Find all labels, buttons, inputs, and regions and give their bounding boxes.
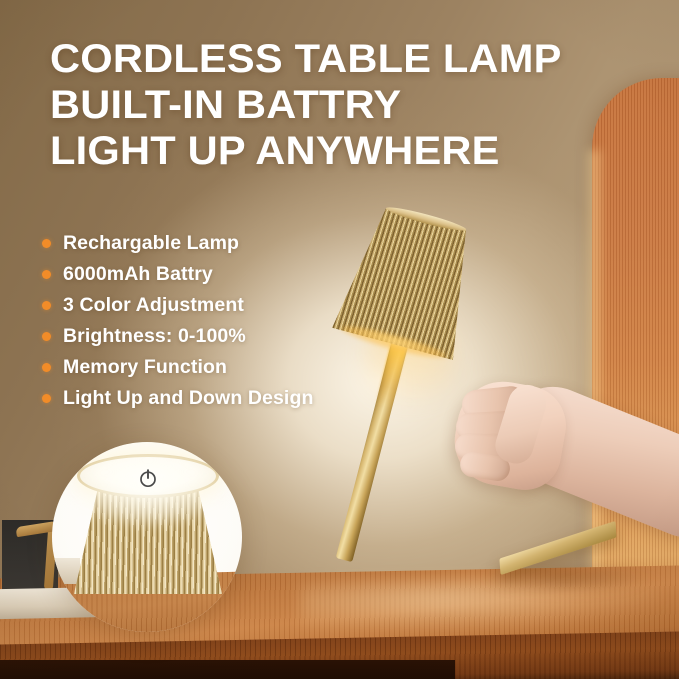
list-item: 3 Color Adjustment xyxy=(42,290,442,321)
list-item: 6000mAh Battry xyxy=(42,259,442,290)
headline-block: CORDLESS TABLE LAMP BUILT-IN BATTRY LIGH… xyxy=(50,36,610,174)
headline-line-2: BUILT-IN BATTRY xyxy=(50,82,632,128)
feature-list: Rechargable Lamp 6000mAh Battry 3 Color … xyxy=(42,228,442,414)
headline-line-1: CORDLESS TABLE LAMP xyxy=(50,36,632,82)
feature-label: 6000mAh Battry xyxy=(63,263,213,286)
inset-decor-block xyxy=(52,558,80,584)
bullet-dot-icon xyxy=(42,301,51,310)
bullet-dot-icon xyxy=(42,363,51,372)
feature-label: Brightness: 0-100% xyxy=(63,325,246,348)
product-ad-banner: CORDLESS TABLE LAMP BUILT-IN BATTRY LIGH… xyxy=(0,0,679,679)
feature-label: Memory Function xyxy=(63,356,227,379)
list-item: Light Up and Down Design xyxy=(42,383,442,414)
headline-line-3: LIGHT UP ANYWHERE xyxy=(50,128,632,174)
bullet-dot-icon xyxy=(42,332,51,341)
table-light-sheen xyxy=(300,575,660,634)
list-item: Brightness: 0-100% xyxy=(42,321,442,352)
bullet-dot-icon xyxy=(42,394,51,403)
detail-inset-circle xyxy=(52,442,242,632)
feature-label: Rechargable Lamp xyxy=(63,232,239,255)
bullet-dot-icon xyxy=(42,239,51,248)
list-item: Rechargable Lamp xyxy=(42,228,442,259)
bullet-dot-icon xyxy=(42,270,51,279)
power-icon xyxy=(136,466,160,490)
table-shadow-panel xyxy=(0,660,455,679)
feature-label: 3 Color Adjustment xyxy=(63,294,244,317)
headboard-glow-edge xyxy=(585,150,601,620)
feature-label: Light Up and Down Design xyxy=(63,387,313,410)
list-item: Memory Function xyxy=(42,352,442,383)
